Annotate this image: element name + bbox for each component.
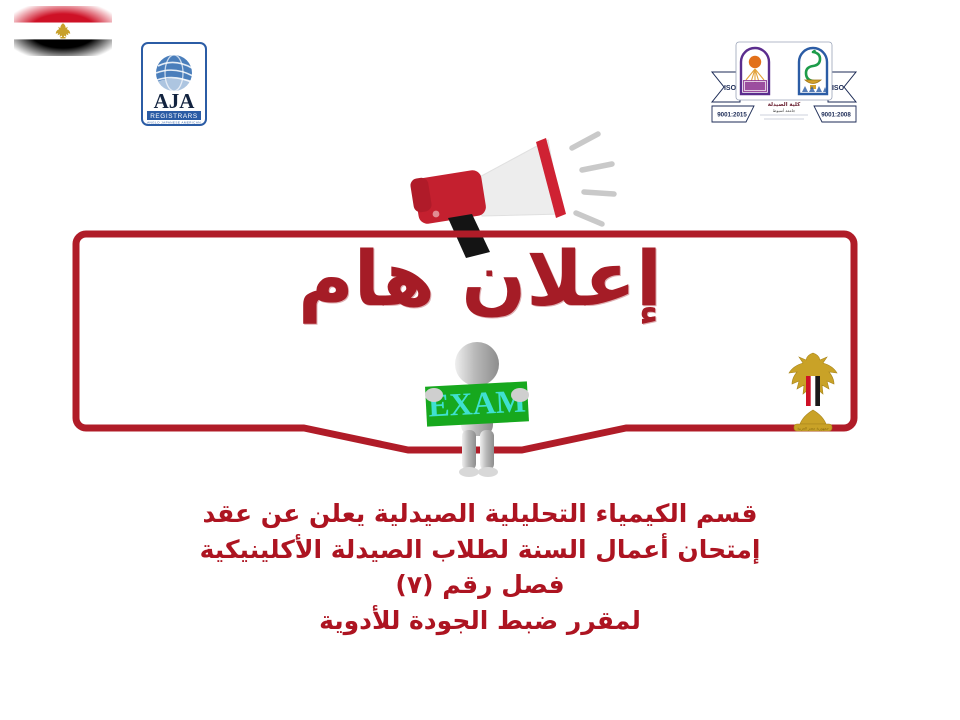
exam-figure-illustration: EXAM: [404, 338, 550, 478]
eagle-of-saladin-icon: جمهورية مصر العربية: [778, 348, 848, 436]
emblem-caption: كلية الصيدلة جامعة أسيوط: [760, 101, 808, 119]
announcement-slide: AJA REGISTRARS ANGLO JAPANESE AMERICAN I…: [0, 0, 960, 720]
svg-text:ISO: ISO: [724, 85, 737, 92]
university-pharmacy-emblem: ISO ISO 9001:2015 9001:2008: [710, 36, 858, 138]
aja-title: AJA: [154, 89, 196, 113]
svg-text:جامعة أسيوط: جامعة أسيوط: [773, 108, 796, 113]
announcement-body: قسم الكيمياء التحليلية الصيدلية يعلن عن …: [0, 496, 960, 638]
assiut-university-seal: [741, 48, 769, 94]
page-title: إعلان هام: [0, 238, 960, 320]
svg-text:9001:2015: 9001:2015: [717, 112, 747, 119]
aja-subtitle: REGISTRARS: [150, 113, 198, 120]
eagle-shield: [806, 376, 820, 408]
body-line-3: فصل رقم (٧): [0, 567, 960, 603]
svg-text:كلية الصيدلة: كلية الصيدلة: [768, 101, 801, 108]
svg-text:جمهورية مصر العربية: جمهورية مصر العربية: [797, 426, 829, 430]
svg-text:9001:2008: 9001:2008: [821, 112, 851, 119]
body-line-2: إمتحان أعمال السنة لطلاب الصيدلة الأكلين…: [0, 532, 960, 568]
body-line-4: لمقرر ضبط الجودة للأدوية: [0, 603, 960, 639]
egypt-flag-icon: [14, 6, 112, 56]
svg-text:ISO: ISO: [832, 85, 845, 92]
exam-sign-label: EXAM: [427, 382, 527, 423]
exam-sign: EXAM: [425, 381, 529, 426]
aja-registrars-logo: AJA REGISTRARS ANGLO JAPANESE AMERICAN: [141, 42, 207, 126]
bowl-of-hygieia-emblem: [799, 48, 827, 94]
sound-rays: [572, 134, 614, 224]
body-line-1: قسم الكيمياء التحليلية الصيدلية يعلن عن …: [0, 496, 960, 532]
aja-tagline: ANGLO JAPANESE AMERICAN: [147, 121, 201, 125]
